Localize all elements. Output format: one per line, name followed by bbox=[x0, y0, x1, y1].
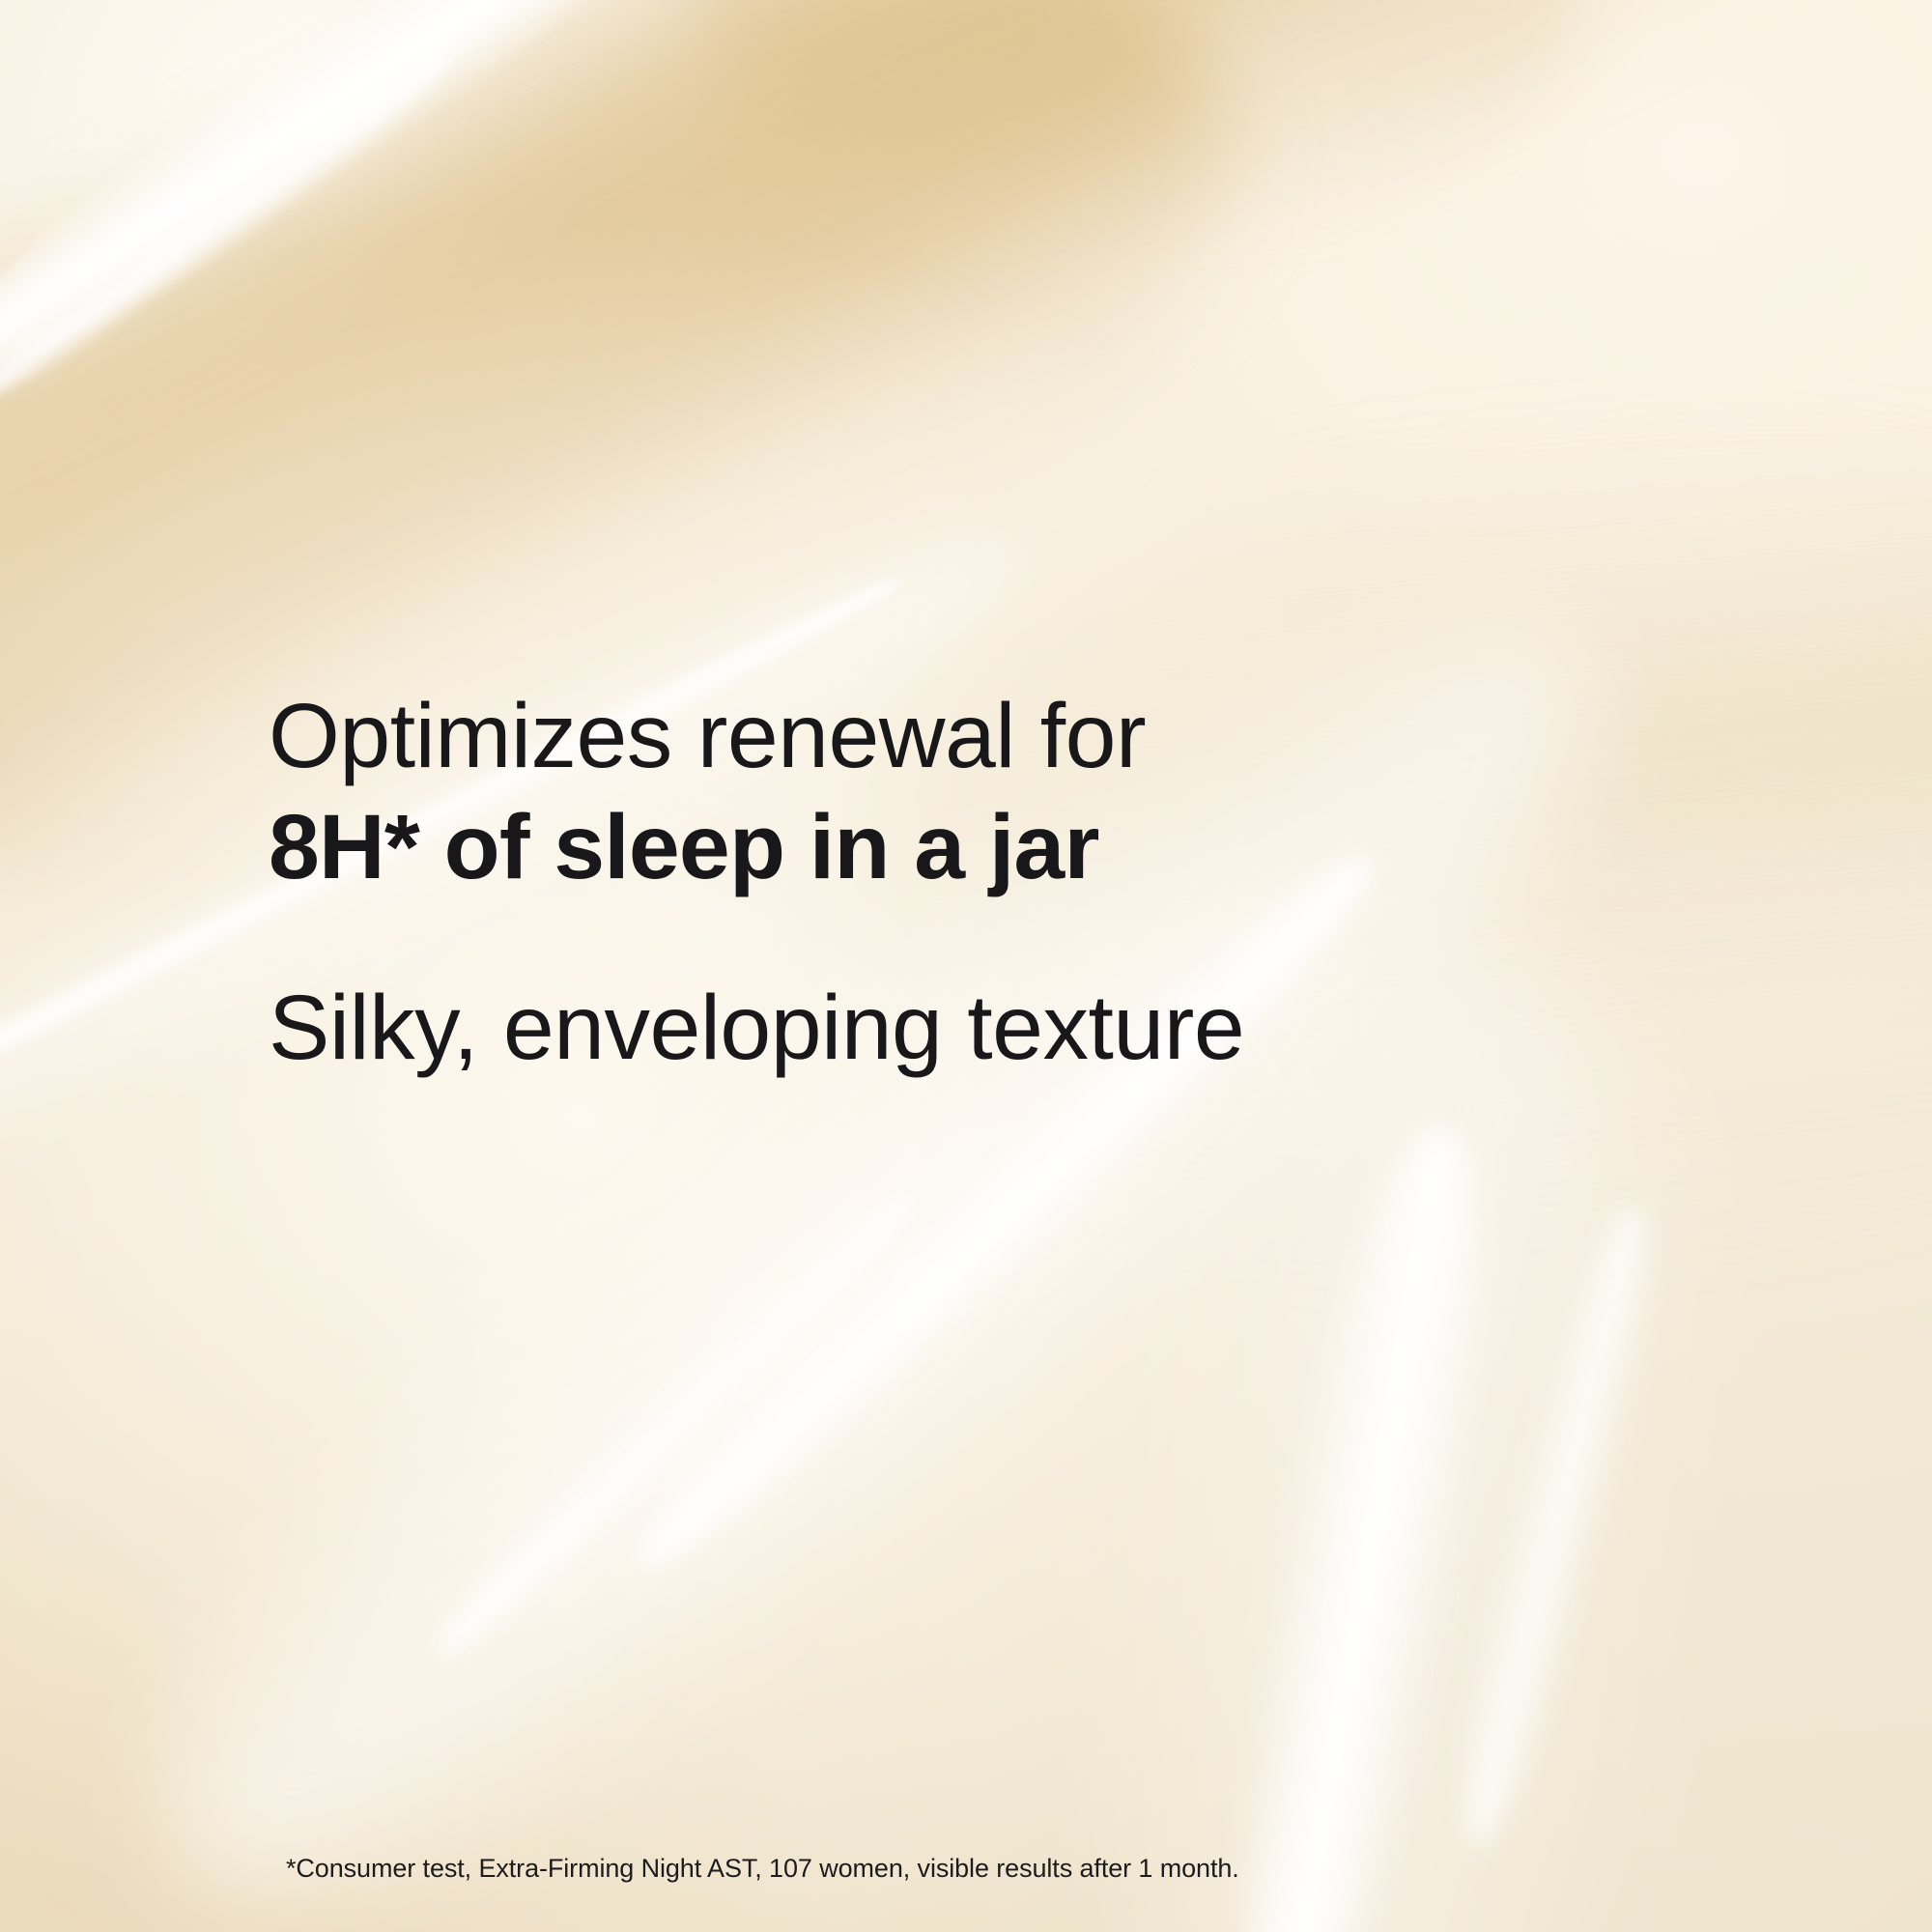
headline-line-1: Optimizes renewal for bbox=[269, 682, 1718, 790]
headline-line-3: Silky, enveloping texture bbox=[269, 974, 1718, 1082]
headline-copy-block: Optimizes renewal for 8H* of sleep in a … bbox=[269, 682, 1718, 1082]
product-texture-banner: Optimizes renewal for 8H* of sleep in a … bbox=[0, 0, 1932, 1932]
headline-line-2: 8H* of sleep in a jar bbox=[269, 790, 1718, 904]
footnote-disclaimer: *Consumer test, Extra-Firming Night AST,… bbox=[286, 1851, 1239, 1886]
